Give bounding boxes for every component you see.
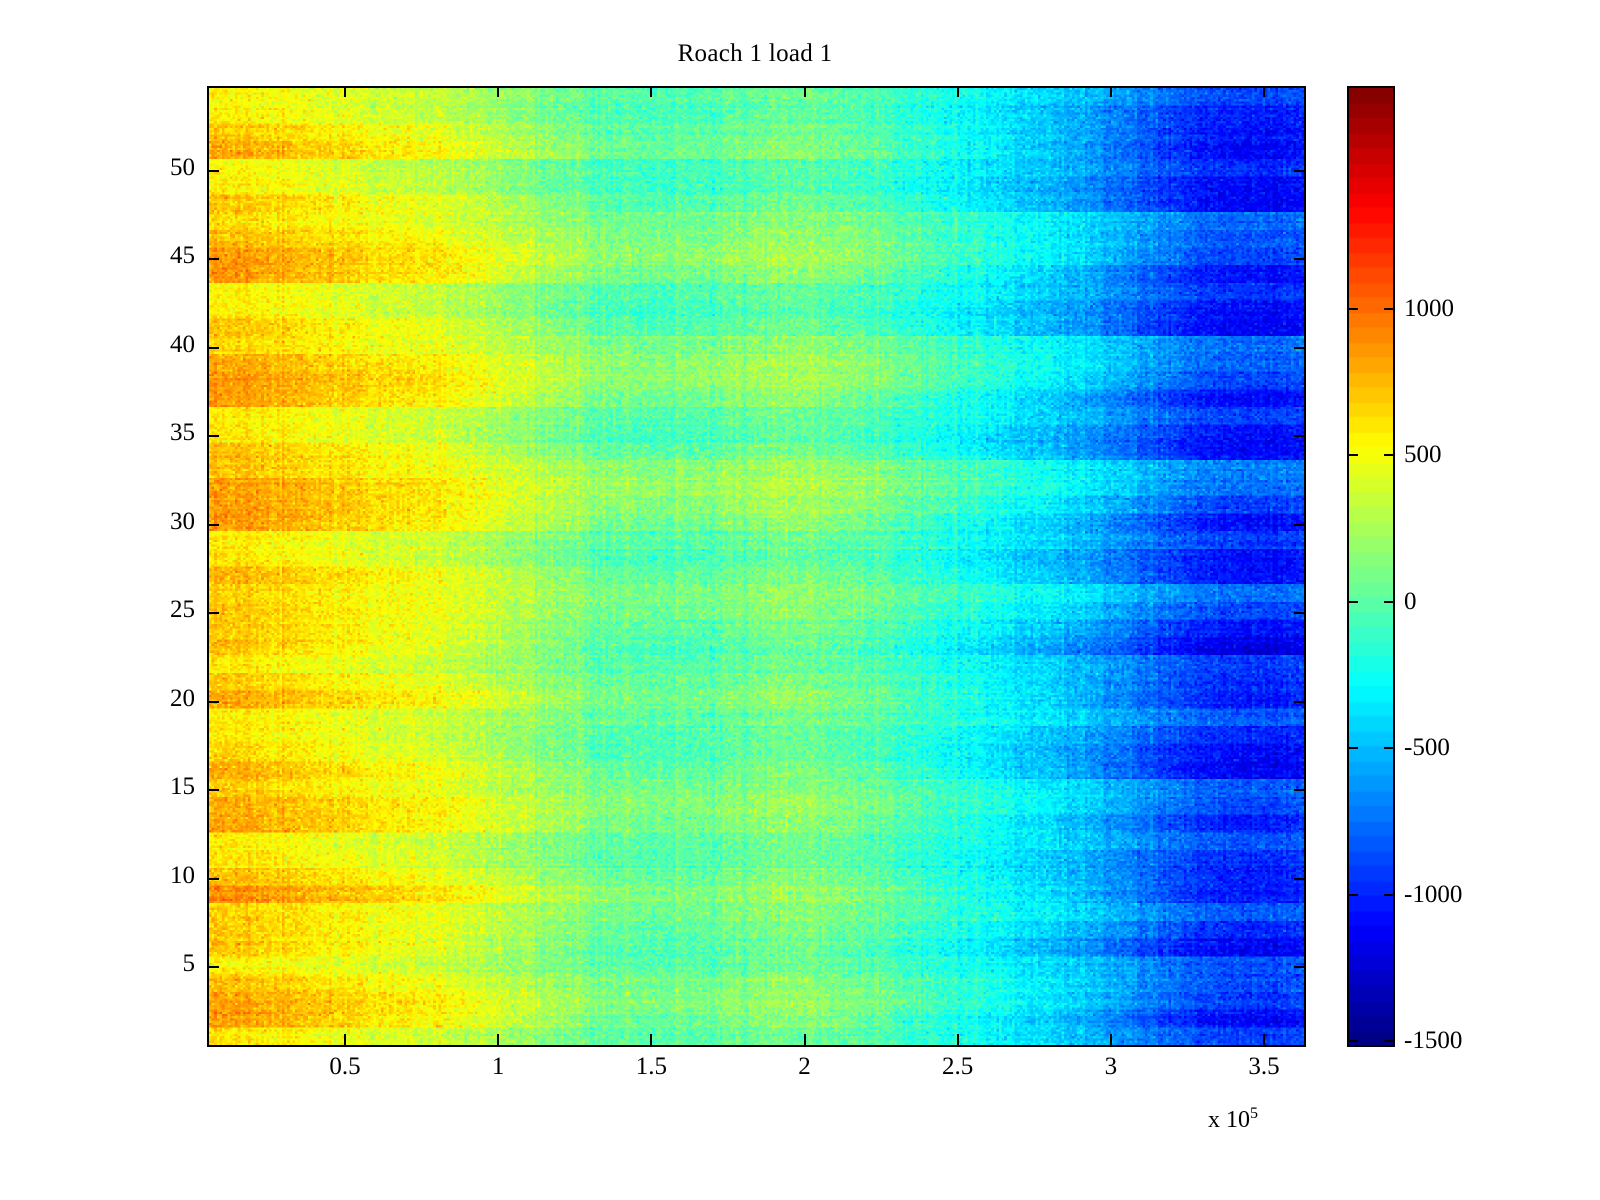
colorbar-tick-label: -1500 — [1404, 1027, 1462, 1055]
y-tick-mark — [1294, 524, 1306, 526]
x-tick-mark — [804, 86, 806, 97]
x-tick-label: 1 — [492, 1053, 505, 1081]
y-tick-label: 50 — [170, 154, 195, 182]
x-exponent-prefix: x 10 — [1208, 1107, 1250, 1133]
y-tick-mark — [207, 789, 219, 791]
x-tick-mark — [804, 1034, 806, 1045]
colorbar-tick-mark — [1347, 1040, 1358, 1042]
y-tick-mark — [1294, 612, 1306, 614]
y-tick-mark — [207, 524, 219, 526]
y-tick-label: 35 — [170, 419, 195, 447]
x-tick-label: 3.5 — [1248, 1053, 1279, 1081]
y-tick-label: 10 — [170, 862, 195, 890]
colorbar-tick-label: -500 — [1404, 734, 1450, 762]
x-tick-label: 2.5 — [942, 1053, 973, 1081]
x-axis-exponent-label: x 105 — [1208, 1105, 1258, 1134]
x-tick-mark — [1110, 86, 1112, 97]
x-tick-mark — [344, 86, 346, 97]
y-tick-mark — [1294, 966, 1306, 968]
y-tick-mark — [1294, 347, 1306, 349]
x-tick-mark — [650, 1034, 652, 1045]
y-tick-label: 40 — [170, 331, 195, 359]
x-tick-mark — [497, 86, 499, 97]
colorbar-tick-mark — [1384, 454, 1395, 456]
y-tick-mark — [207, 347, 219, 349]
heatmap-axes[interactable] — [207, 86, 1306, 1047]
x-tick-mark — [957, 86, 959, 97]
colorbar-tick-mark — [1347, 601, 1358, 603]
y-tick-label: 25 — [170, 596, 195, 624]
x-tick-mark — [497, 1034, 499, 1045]
y-tick-mark — [207, 878, 219, 880]
colorbar-tick-mark — [1347, 747, 1358, 749]
x-tick-label: 3 — [1105, 1053, 1118, 1081]
colorbar-tick-mark — [1347, 894, 1358, 896]
colorbar-tick-label: 0 — [1404, 588, 1417, 616]
colorbar-tick-label: -1000 — [1404, 881, 1462, 909]
x-tick-label: 0.5 — [329, 1053, 360, 1081]
y-tick-label: 20 — [170, 685, 195, 713]
colorbar-tick-mark — [1384, 747, 1395, 749]
y-tick-label: 15 — [170, 773, 195, 801]
y-tick-mark — [1294, 878, 1306, 880]
colorbar[interactable] — [1347, 86, 1395, 1047]
page-title: Roach 1 load 1 — [0, 40, 1510, 68]
x-tick-mark — [650, 86, 652, 97]
colorbar-tick-mark — [1384, 894, 1395, 896]
colorbar-tick-mark — [1384, 1040, 1395, 1042]
x-tick-mark — [957, 1034, 959, 1045]
colorbar-tick-label: 500 — [1404, 441, 1442, 469]
figure-canvas: Roach 1 load 1 51015202530354045500.511.… — [0, 0, 1600, 1200]
y-tick-label: 5 — [183, 950, 196, 978]
x-tick-mark — [344, 1034, 346, 1045]
x-exponent-power: 5 — [1250, 1105, 1258, 1122]
x-tick-mark — [1263, 1034, 1265, 1045]
y-tick-mark — [1294, 170, 1306, 172]
x-tick-label: 1.5 — [636, 1053, 667, 1081]
colorbar-tick-label: 1000 — [1404, 295, 1454, 323]
colorbar-tick-mark — [1384, 601, 1395, 603]
y-tick-mark — [1294, 789, 1306, 791]
colorbar-tick-mark — [1347, 454, 1358, 456]
colorbar-tick-mark — [1347, 308, 1358, 310]
y-tick-mark — [207, 612, 219, 614]
y-tick-label: 30 — [170, 508, 195, 536]
x-tick-label: 2 — [798, 1053, 811, 1081]
y-tick-mark — [207, 258, 219, 260]
x-tick-mark — [1263, 86, 1265, 97]
colorbar-gradient — [1349, 88, 1393, 1045]
x-tick-mark — [1110, 1034, 1112, 1045]
heatmap-image — [209, 88, 1304, 1045]
y-tick-mark — [1294, 435, 1306, 437]
y-tick-mark — [207, 701, 219, 703]
y-tick-mark — [1294, 258, 1306, 260]
y-tick-mark — [207, 966, 219, 968]
y-tick-mark — [1294, 701, 1306, 703]
y-tick-mark — [207, 435, 219, 437]
colorbar-tick-mark — [1384, 308, 1395, 310]
y-tick-mark — [207, 170, 219, 172]
y-tick-label: 45 — [170, 242, 195, 270]
